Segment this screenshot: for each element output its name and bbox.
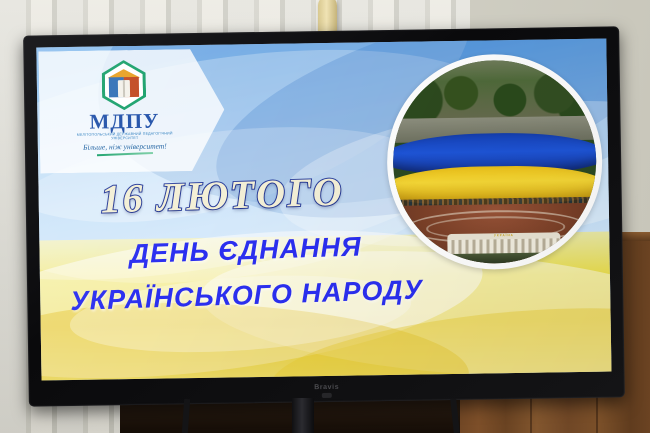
tv-ir-receiver	[322, 393, 332, 398]
television: МДПУ МЕЛІТОПОЛЬСЬКИЙ ДЕРЖАВНИЙ ПЕДАГОГІЧ…	[23, 26, 625, 406]
tv-screen: МДПУ МЕЛІТОПОЛЬСЬКИЙ ДЕРЖАВНИЙ ПЕДАГОГІЧ…	[36, 39, 611, 381]
photo-colonnade-sign: УКРАЇНА	[463, 233, 544, 240]
aerial-flag-photo: УКРАЇНА	[392, 59, 598, 265]
logo-tagline: Більше, ніж університет!	[70, 141, 180, 152]
university-logo: МДПУ МЕЛІТОПОЛЬСЬКИЙ ДЕРЖАВНИЙ ПЕДАГОГІЧ…	[69, 59, 180, 156]
hexagon-cube-book-icon	[102, 60, 147, 111]
logo-name: МДПУ	[69, 110, 179, 133]
tv-stand-neck	[292, 398, 314, 433]
headline-line-1: 16 ЛЮТОГО	[100, 168, 344, 223]
presentation-slide: МДПУ МЕЛІТОПОЛЬСЬКИЙ ДЕРЖАВНИЙ ПЕДАГОГІЧ…	[36, 39, 611, 381]
tv-brand-label: Bravis	[314, 384, 339, 391]
circular-photo-frame: УКРАЇНА	[385, 53, 603, 271]
photo-treeline	[392, 71, 596, 119]
